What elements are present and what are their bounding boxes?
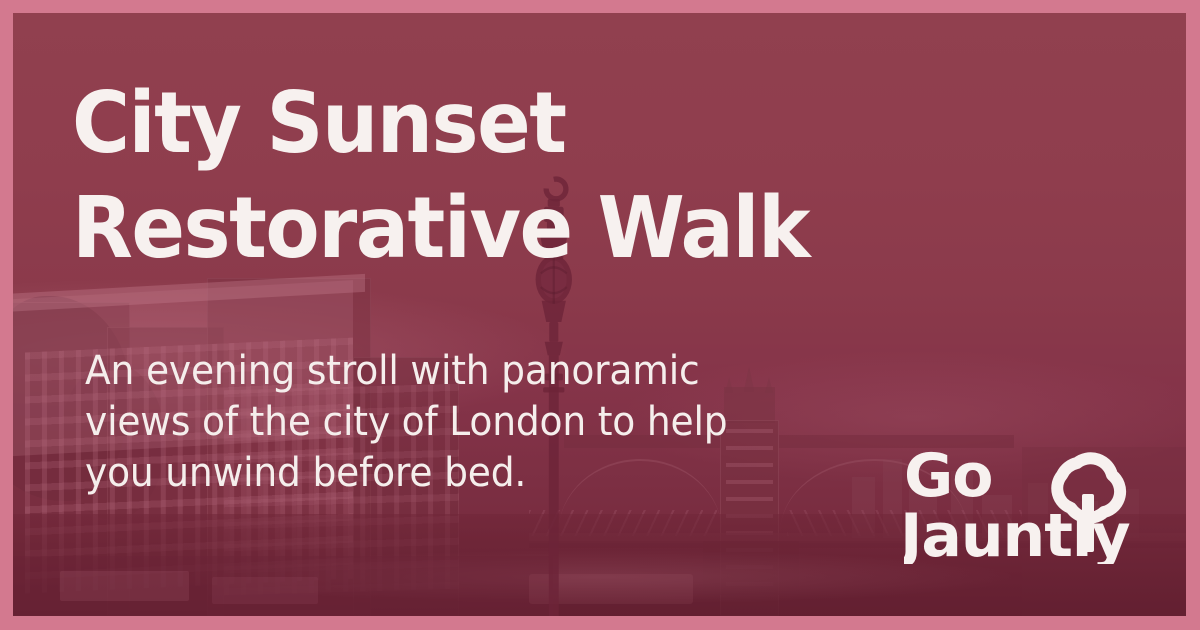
go-jauntly-logo[interactable]: Go Jauntly [904,436,1136,564]
walk-description: An evening stroll with panoramic views o… [85,346,865,499]
social-share-card: City Sunset Restorative Walk An evening … [0,0,1200,630]
logo-word-bottom: Jauntly [904,501,1130,564]
card-stage: City Sunset Restorative Walk An evening … [13,13,1186,616]
page-title: City Sunset Restorative Walk [72,71,890,281]
card-content: City Sunset Restorative Walk An evening … [13,13,1186,616]
